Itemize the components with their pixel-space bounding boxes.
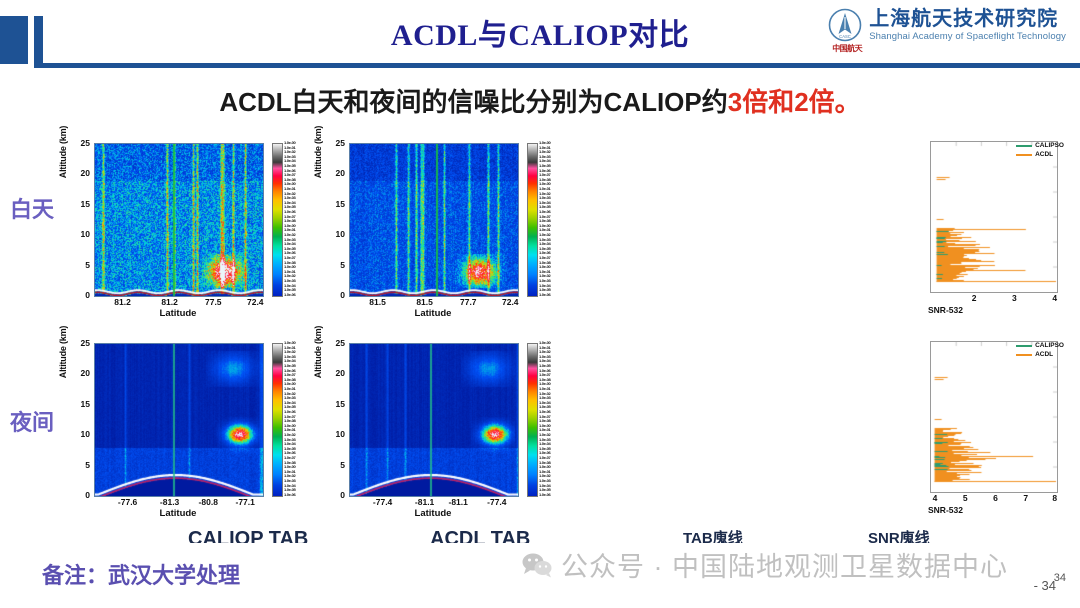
snr-canvas (931, 342, 1057, 492)
brand-logo-subtext: 中国航天 (828, 43, 866, 54)
caption-snr-profile: SNR廆线 (868, 529, 930, 543)
axis-tick-x: 81.2 (114, 297, 131, 307)
axis-tick-y: 15 (81, 399, 90, 409)
axis-ticks-x: 234 (930, 293, 1056, 305)
brand-text-group: 上海航天技术研究院 Shanghai Academy of Spacefligh… (869, 8, 1066, 42)
legend-swatch (1016, 154, 1032, 156)
chart-caliop-day: Altitude (km) 0510152025 81.281.277.572.… (60, 137, 310, 322)
colorbar-ticks: 1.0e-001.0e-011.0e-021.0e-031.0e-041.0e-… (539, 141, 565, 297)
curtain-canvas (350, 144, 518, 296)
axis-tick-y: 0 (85, 290, 90, 300)
chart-caliop-night: Altitude (km) 0510152025 -77.6-81.3-80.8… (60, 337, 310, 522)
caption-caliop-tab: CALIOP TAB (188, 529, 308, 543)
snr-canvas (931, 142, 1057, 292)
colorbar-ticks: 1.0e-001.0e-011.0e-021.0e-031.0e-041.0e-… (284, 141, 310, 297)
chart-snr-night: CALIPSOACDL 45678 SNR-532 (920, 337, 1070, 522)
legend-swatch (1016, 354, 1032, 356)
colorbar (272, 343, 283, 497)
footer-note: 备注：武汉大学处理 (42, 558, 240, 590)
watermark-text: 公众号 · 中国陆地观测卫星数据中心 (561, 545, 1008, 584)
snr-plot-area (930, 141, 1058, 293)
colorbar-tick: 1.0e-06 (284, 293, 295, 297)
axis-tick-y: 10 (336, 229, 345, 239)
colorbar (272, 143, 283, 297)
axis-label-x: SNR-532 (928, 305, 963, 315)
curtain-image (349, 343, 519, 497)
legend-label: ACDL (1035, 351, 1053, 360)
axis-ticks-y: 0510152025 (323, 343, 345, 495)
axis-tick-y: 10 (336, 429, 345, 439)
axis-tick-x: 2 (972, 293, 977, 303)
axis-tick-x: 81.5 (369, 297, 386, 307)
curtain-canvas (95, 144, 263, 296)
axis-tick-x: 81.5 (416, 297, 433, 307)
axis-tick-y: 10 (81, 429, 90, 439)
axis-tick-y: 25 (336, 138, 345, 148)
colorbar-tick: 1.0e-06 (539, 293, 550, 297)
colorbar (527, 143, 538, 297)
axis-tick-x: 4 (933, 493, 938, 503)
curtain-canvas (95, 344, 263, 496)
legend-label: ACDL (1035, 151, 1053, 160)
axis-tick-x: -81.1 (449, 497, 468, 507)
page-number-superscript: 34 (1054, 572, 1066, 584)
curtain-image (94, 143, 264, 297)
legend-item: ACDL (1016, 351, 1064, 360)
axis-tick-x: 4 (1052, 293, 1057, 303)
legend-item: ACDL (1016, 151, 1064, 160)
legend-swatch (1016, 145, 1032, 147)
wechat-icon (522, 552, 552, 578)
colorbar-ticks: 1.0e-001.0e-011.0e-021.0e-031.0e-041.0e-… (539, 341, 565, 497)
axis-ticks-y: 0510152025 (68, 343, 90, 495)
axis-tick-y: 5 (340, 460, 345, 470)
colorbar-tick: 1.0e-06 (539, 493, 550, 497)
colorbar (527, 343, 538, 497)
axis-ticks-y: 0510152025 (68, 143, 90, 295)
legend-label: CALIPSO (1035, 142, 1064, 151)
caption-acdl-tab: ACDL TAB (430, 529, 530, 543)
axis-tick-y: 25 (81, 338, 90, 348)
axis-tick-x: 72.4 (247, 297, 264, 307)
slide-header: ACDL与CALIOP对比 CASC 中国航天 上海航天技术研究院 Shangh… (0, 0, 1080, 70)
axis-tick-y: 15 (336, 199, 345, 209)
curtain-canvas (350, 344, 518, 496)
colorbar-tick: 1.0e-06 (284, 493, 295, 497)
axis-label-x: Latitude (349, 508, 517, 519)
axis-tick-y: 0 (340, 490, 345, 500)
brand-name-cn: 上海航天技术研究院 (869, 8, 1066, 30)
axis-tick-y: 5 (340, 260, 345, 270)
caption-tab-profile: TAB廆线 (683, 529, 743, 543)
axis-tick-y: 5 (85, 260, 90, 270)
axis-tick-x: -81.3 (160, 497, 179, 507)
row-label-nighttime: 夜间 (10, 405, 54, 437)
legend-item: CALIPSO (1016, 342, 1064, 351)
axis-tick-x: 6 (993, 493, 998, 503)
brand-lockup: CASC 中国航天 上海航天技术研究院 Shanghai Academy of … (828, 8, 1066, 42)
axis-tick-x: 77.7 (460, 297, 477, 307)
legend-swatch (1016, 345, 1032, 347)
axis-ticks-x: 45678 (930, 493, 1056, 505)
axis-tick-x: 7 (1023, 493, 1028, 503)
axis-label-x: SNR-532 (928, 505, 963, 515)
axis-label-x: Latitude (94, 308, 262, 319)
chart-snr-day: CALIPSOACDL 234 SNR-532 (920, 137, 1070, 322)
row-label-daytime: 白天 (10, 192, 54, 224)
axis-tick-y: 25 (81, 138, 90, 148)
axis-label-y: Altitude (km) (58, 315, 68, 389)
axis-tick-y: 10 (81, 229, 90, 239)
svg-text:CASC: CASC (839, 34, 851, 39)
axis-label-y: Altitude (km) (58, 115, 68, 189)
axis-tick-x: 77.5 (205, 297, 222, 307)
legend-label: CALIPSO (1035, 342, 1064, 351)
slide-subtitle: ACDL白天和夜间的信噪比分别为CALIOP约3倍和2倍。 (0, 82, 1080, 119)
axis-tick-y: 0 (340, 290, 345, 300)
axis-tick-x: 8 (1052, 493, 1057, 503)
axis-label-y: Altitude (km) (313, 315, 323, 389)
axis-tick-x: -80.8 (199, 497, 218, 507)
axis-tick-x: 81.2 (161, 297, 178, 307)
axis-label-x: Latitude (94, 508, 262, 519)
axis-tick-y: 20 (81, 368, 90, 378)
axis-tick-y: 15 (336, 399, 345, 409)
axis-label-y: Altitude (km) (313, 115, 323, 189)
axis-tick-y: 25 (336, 338, 345, 348)
axis-tick-x: -77.6 (118, 497, 137, 507)
axis-tick-x: -81.1 (415, 497, 434, 507)
axis-tick-y: 20 (336, 168, 345, 178)
snr-plot-area (930, 341, 1058, 493)
watermark: 公众号 · 中国陆地观测卫星数据中心 (522, 545, 1008, 584)
brand-name-en: Shanghai Academy of Spaceflight Technolo… (869, 32, 1066, 42)
colorbar-ticks: 1.0e-001.0e-011.0e-021.0e-031.0e-041.0e-… (284, 341, 310, 497)
page-number: - 34 (1034, 578, 1056, 593)
axis-tick-y: 5 (85, 460, 90, 470)
chart-acdl-night: Altitude (km) 0510152025 -77.4-81.1-81.1… (315, 337, 565, 522)
chart-acdl-day: Altitude (km) 0510152025 81.581.577.772.… (315, 137, 565, 322)
curtain-image (94, 343, 264, 497)
header-rule (43, 63, 1080, 68)
axis-label-x: Latitude (349, 308, 517, 319)
axis-tick-y: 20 (336, 368, 345, 378)
axis-tick-x: -77.1 (236, 497, 255, 507)
axis-tick-x: 72.4 (502, 297, 519, 307)
axis-tick-x: 3 (1012, 293, 1017, 303)
subtitle-highlight: 3倍和2倍。 (728, 87, 861, 117)
legend-item: CALIPSO (1016, 142, 1064, 151)
legend: CALIPSOACDL (1016, 342, 1064, 360)
legend: CALIPSOACDL (1016, 142, 1064, 160)
curtain-image (349, 143, 519, 297)
axis-tick-y: 20 (81, 168, 90, 178)
subtitle-main: ACDL白天和夜间的信噪比分别为CALIOP约 (219, 87, 727, 117)
axis-tick-y: 15 (81, 199, 90, 209)
axis-ticks-y: 0510152025 (323, 143, 345, 295)
axis-tick-x: -77.4 (487, 497, 506, 507)
axis-tick-x: 5 (963, 493, 968, 503)
axis-tick-y: 0 (85, 490, 90, 500)
axis-tick-x: -77.4 (373, 497, 392, 507)
casc-logo-icon: CASC 中国航天 (828, 8, 862, 42)
